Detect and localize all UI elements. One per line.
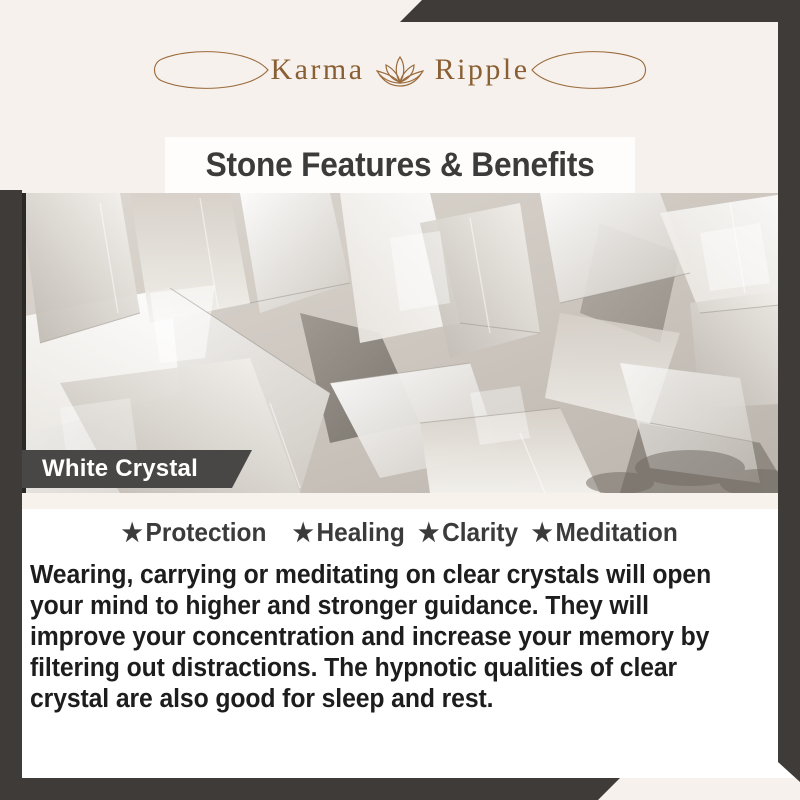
brand-name-second: Ripple (435, 55, 530, 85)
crystal-photo-art (0, 193, 800, 493)
infographic-card: Karma Ripple Stone Features & Benefits (0, 0, 800, 800)
star-icon: ★ (532, 519, 553, 547)
page-title: Stone Features & Benefits (206, 146, 595, 185)
feature-label: Protection (146, 517, 267, 547)
brand-name-first: Karma (270, 55, 364, 85)
feature-item-meditation: ★Meditation (532, 517, 678, 548)
stone-name-label: White Crystal (42, 455, 198, 483)
crystal-photo (0, 193, 800, 493)
frame-edge-left (0, 190, 22, 800)
content-top-tint (22, 493, 778, 509)
star-icon: ★ (122, 519, 143, 547)
stone-name-banner: White Crystal (0, 450, 252, 488)
page-title-band: Stone Features & Benefits (165, 137, 635, 193)
feature-item-clarity: ★Clarity (418, 517, 518, 548)
frame-edge-right (778, 0, 800, 782)
feature-label: Clarity (442, 517, 518, 547)
logo-right-flourish-icon (530, 47, 650, 93)
feature-label: Healing (317, 517, 405, 547)
brand-logo: Karma Ripple (0, 44, 800, 96)
feature-item-healing: ★Healing (293, 517, 405, 548)
frame-corner-bottom-left (0, 778, 620, 800)
logo-left-flourish-icon (150, 47, 270, 93)
star-icon: ★ (293, 519, 314, 547)
feature-item-protection: ★Protection (122, 517, 267, 548)
feature-label: Meditation (556, 517, 678, 547)
star-icon: ★ (418, 519, 439, 547)
lotus-flower-icon (367, 44, 433, 96)
frame-corner-top-right (400, 0, 800, 22)
body-paragraph: Wearing, carrying or meditating on clear… (30, 560, 732, 715)
features-list: ★Protection★Healing★Clarity★Meditation (0, 517, 800, 548)
